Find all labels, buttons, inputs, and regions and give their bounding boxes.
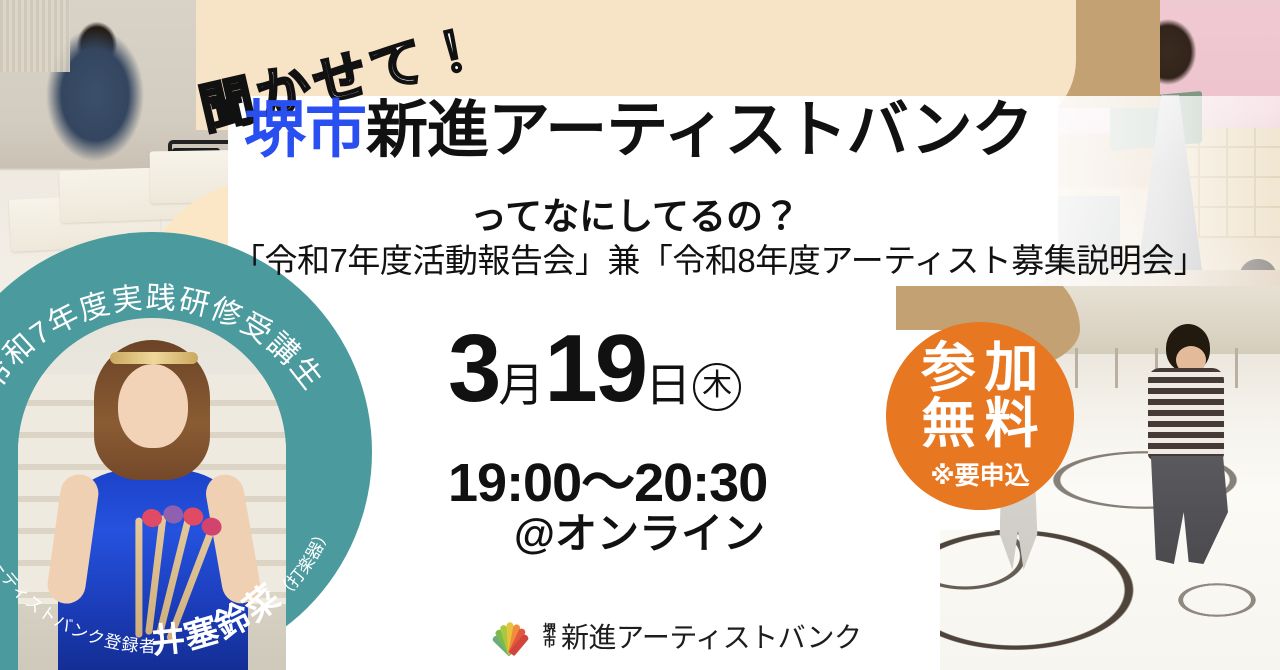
brand-wordmark: 堺 市 新進アーティストバンク <box>543 616 862 656</box>
event-weekday-badge: 木 <box>693 363 741 411</box>
brand-name: 新進アーティストバンク <box>561 616 862 656</box>
wall-texture <box>0 0 70 72</box>
brand-city-char-2: 市 <box>543 636 556 648</box>
event-month-unit: 月 <box>498 359 544 411</box>
fan-icon <box>488 616 534 656</box>
face <box>118 364 188 448</box>
artist-portrait-photo <box>18 318 286 670</box>
status-badge-free: 参加 無料 ※要申込 <box>886 322 1074 510</box>
title-city: 堺市 <box>244 96 366 165</box>
badge-line-2: 無料 <box>913 396 1048 452</box>
headline-tagline: 「令和7年度活動報告会」兼「令和8年度アーティスト募集説明会」 <box>232 234 1206 282</box>
event-day-unit: 日 <box>645 359 691 411</box>
brand-logo: 堺 市 新進アーティストバンク <box>488 616 862 656</box>
badge-note: ※要申込 <box>930 456 1029 492</box>
event-date: 3月19日木 <box>448 326 741 415</box>
event-month-number: 3 <box>448 315 498 422</box>
event-day-number: 19 <box>544 315 645 422</box>
poster-canvas: 令和7年度実践研修受講生 堺市新進アーティストバンク登録者 井塞鈴菜 （打楽器）… <box>0 0 1280 670</box>
event-venue: @オンライン <box>514 500 765 561</box>
tiara-icon <box>110 352 198 364</box>
page-title: 堺市新進アーティストバンク <box>244 100 1033 162</box>
badge-line-1: 参加 <box>913 340 1048 396</box>
brand-city: 堺 市 <box>543 624 556 649</box>
title-rest: 新進アーティストバンク <box>366 96 1033 165</box>
person-walking-right <box>1136 324 1232 584</box>
headline-subtitle: ってなにしてるの？ <box>470 186 800 240</box>
